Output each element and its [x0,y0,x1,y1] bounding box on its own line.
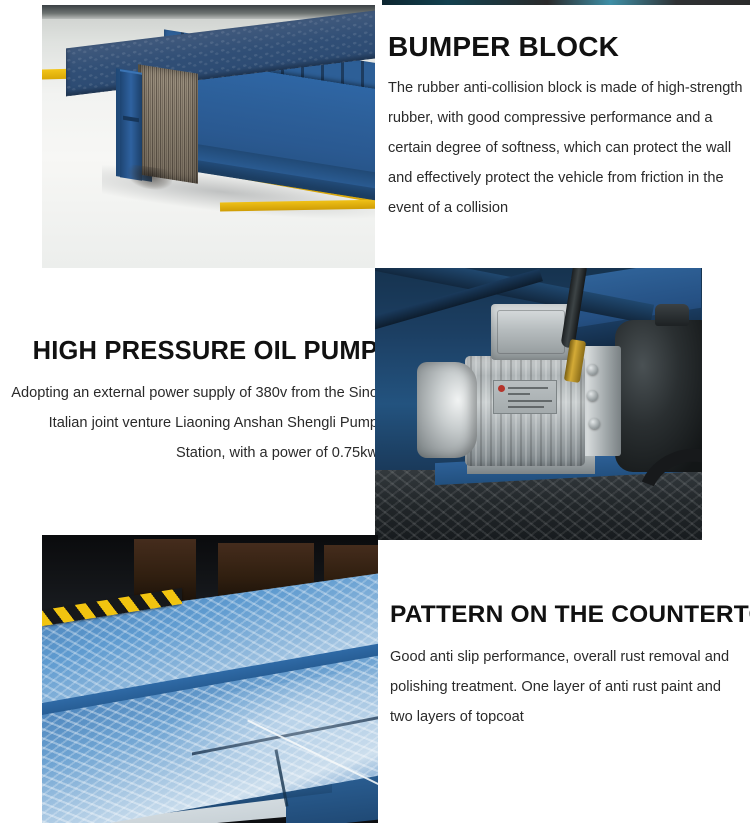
motor-nameplate [493,380,557,414]
pump-bolt-1 [587,364,598,375]
manufacturer-logo-icon [498,385,505,392]
countertop-pattern-body: Good anti slip performance, overall rust… [390,642,742,732]
oil-pump-text: HIGH PRESSURE OIL PUMP Adopting an exter… [10,336,378,468]
product-feature-page: BUMPER BLOCK The rubber anti-collision b… [0,0,750,823]
pump-bolt-2 [587,390,598,401]
motor-fan-cover [417,362,477,458]
bumper-block-photo [42,5,375,268]
bumper-block-heading: BUMPER BLOCK [388,32,744,62]
oil-pump-photo [375,268,702,540]
nameplate-line-4 [508,406,544,408]
bumper-block-body: The rubber anti-collision block is made … [388,73,744,223]
bumper-block-text: BUMPER BLOCK The rubber anti-collision b… [388,32,744,223]
top-edge-strip [382,0,750,5]
countertop-pattern-photo [42,535,378,823]
pump-bolt-3 [589,418,600,429]
nameplate-line-2 [508,393,530,395]
motor-junction-box [491,304,571,360]
countertop-pattern-heading: PATTERN ON THE COUNTERTOP [390,600,742,630]
nameplate-line-1 [508,387,548,389]
countertop-pattern-text: PATTERN ON THE COUNTERTOP Good anti slip… [390,600,742,732]
oil-pump-heading: HIGH PRESSURE OIL PUMP [10,336,378,366]
oil-tank-filler-cap [655,304,689,326]
oil-pump-body: Adopting an external power supply of 380… [10,378,378,468]
nameplate-line-3 [508,400,552,402]
